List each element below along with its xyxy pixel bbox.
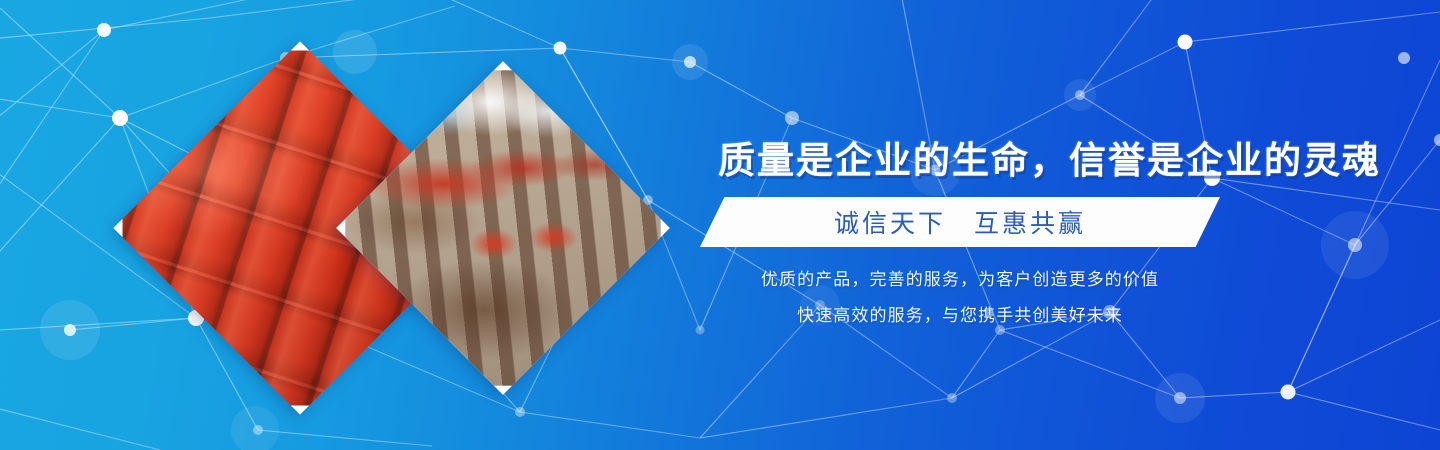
promo-banner: 质量是企业的生命，信誉是企业的灵魂 诚信天下 互惠共赢 优质的产品，完善的服务，…: [0, 0, 1440, 450]
slogan-band: 诚信天下 互惠共赢: [700, 197, 1220, 247]
banner-subtitle-line-2: 快速高效的服务，与您携手共创美好未来: [700, 301, 1220, 326]
banner-subtitle-line-1: 优质的产品，完善的服务，为客户创造更多的价值: [700, 265, 1220, 290]
banner-headline: 质量是企业的生命，信誉是企业的灵魂: [718, 140, 1252, 182]
slogan-band-text: 诚信天下 互惠共赢: [700, 197, 1220, 247]
